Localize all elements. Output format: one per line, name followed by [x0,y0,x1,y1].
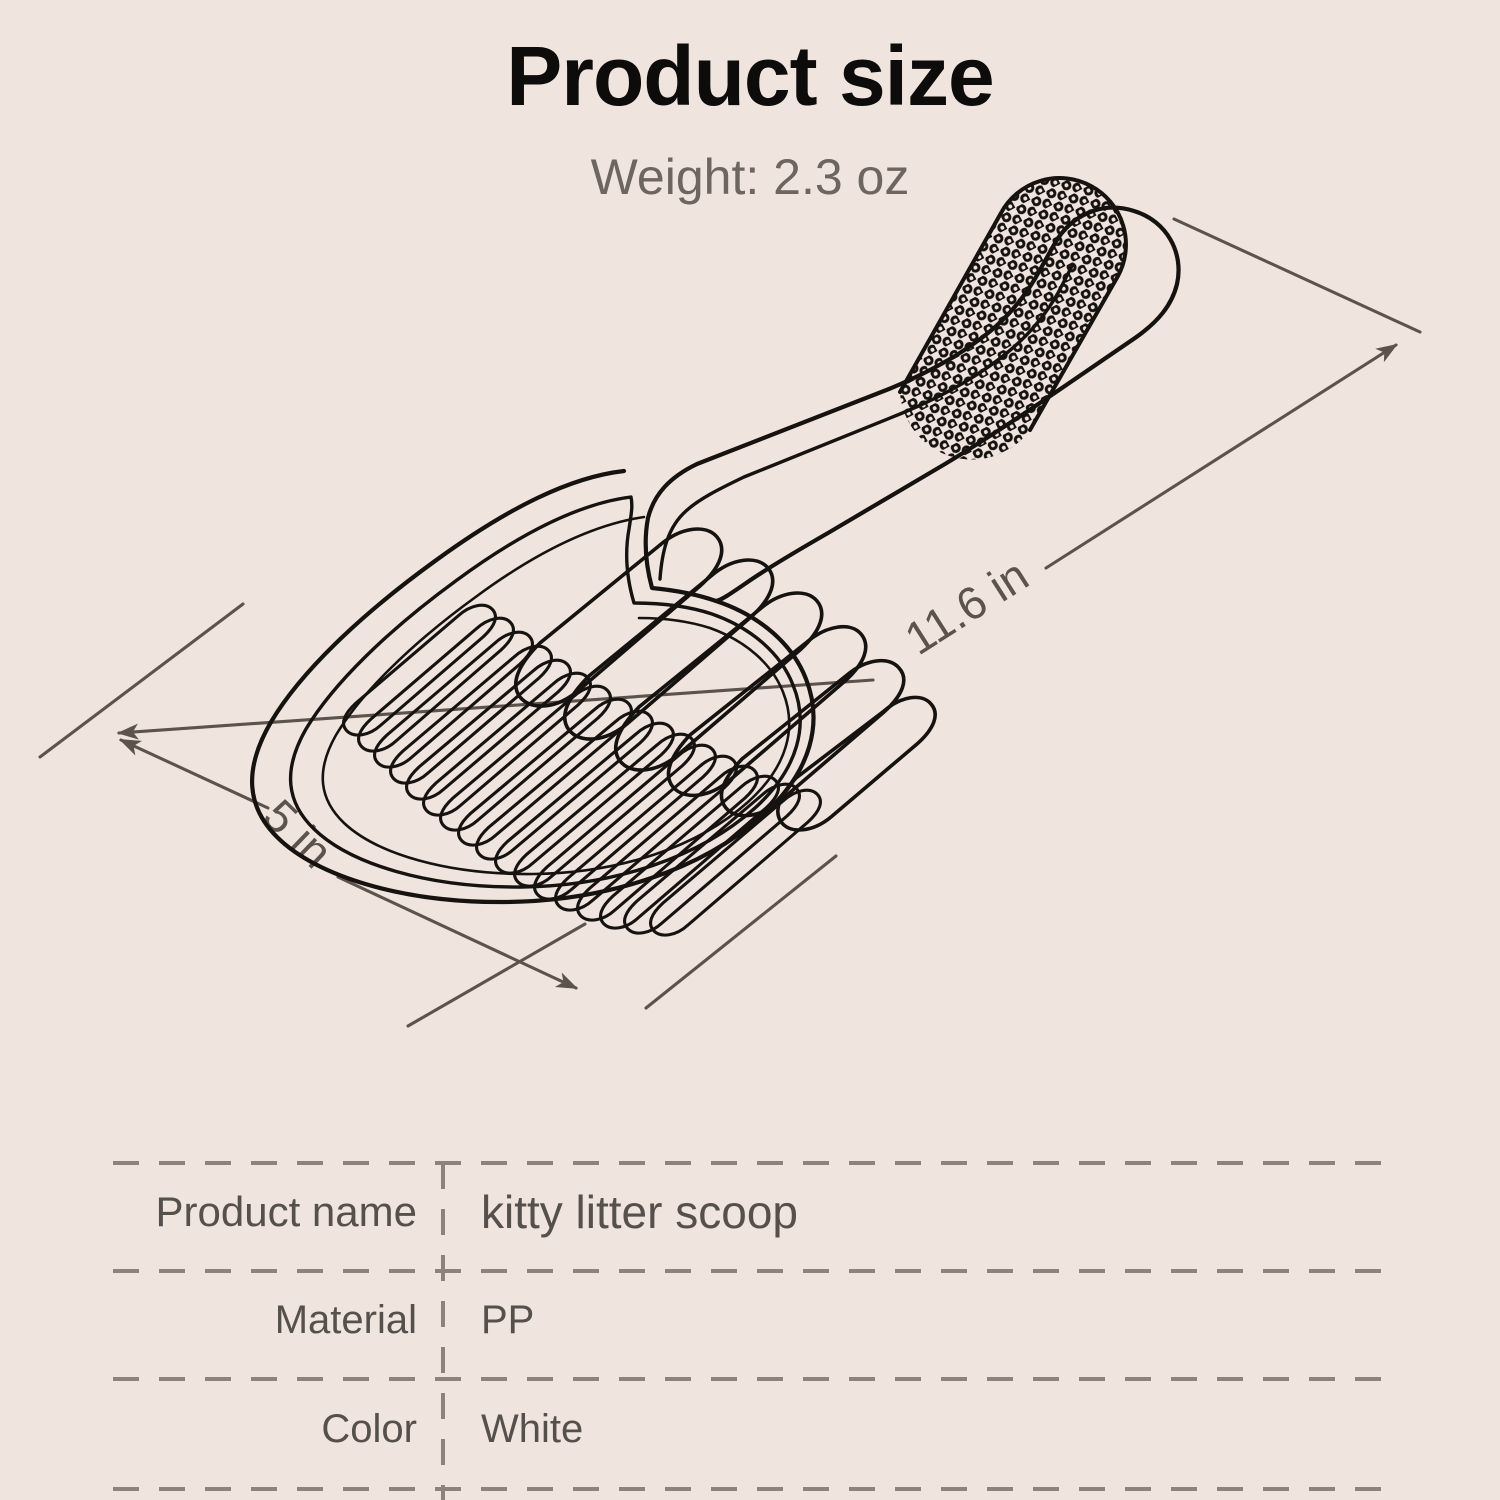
spec-table: Product name kitty litter scoop Material… [113,1158,1393,1500]
dimension-line-width-seg1 [121,740,268,808]
dimension-line-length-seg2 [1046,345,1396,568]
table-row: Color White [113,1374,1393,1484]
dimension-line-width-seg2 [338,877,576,988]
extension-line-top [1174,219,1420,332]
spec-value-material: PP [443,1298,1393,1343]
spec-label-material: Material [113,1298,443,1343]
spec-label-color: Color [113,1407,443,1452]
slot-grid-fine [344,605,821,935]
product-size-infographic: Product size Weight: 2.3 oz [0,0,1500,1500]
dimension-label-length: 11.6 in [896,548,1038,664]
extension-line-bottom-left [408,924,585,1026]
spec-label-product-name: Product name [113,1188,443,1236]
table-row: Product name kitty litter scoop [113,1158,1393,1266]
spec-value-product-name: kitty litter scoop [443,1185,1393,1239]
table-row: Material PP [113,1266,1393,1374]
handle-grip-dots [880,180,1160,470]
extension-line-left [40,604,243,757]
dimension-line-length-seg1 [119,680,873,733]
spec-value-color: White [443,1407,1393,1452]
